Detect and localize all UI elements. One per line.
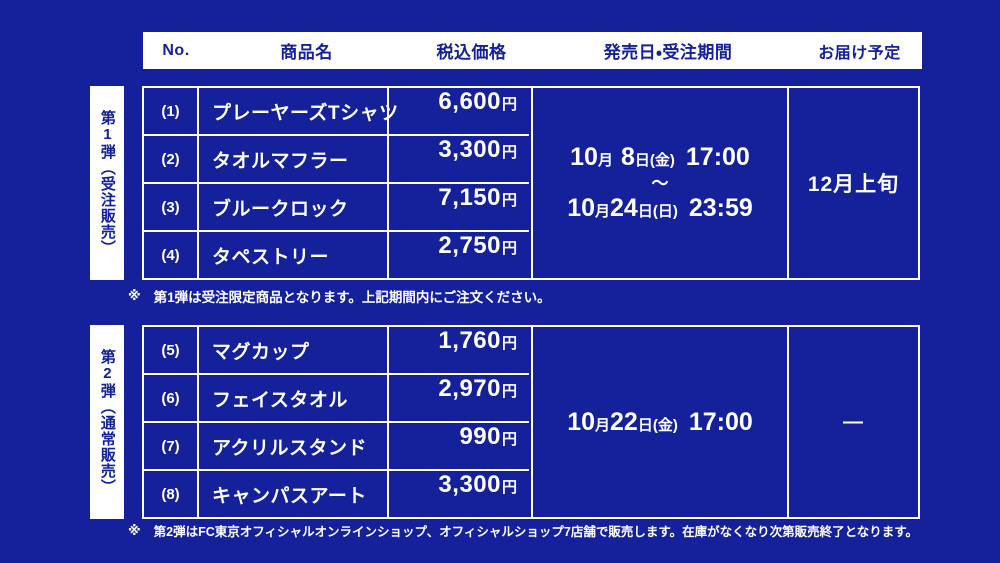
product-block-second: 第2弾（通常販売） (5) マグカップ 1,760 円 (6) フェイスタオル …: [90, 325, 920, 519]
header-cell-price: 税込価格: [404, 38, 539, 63]
row-number: (5): [144, 327, 199, 373]
row-number: (1): [144, 88, 199, 134]
note-text: 第1弾は受注限定商品となります。上記期間内にご注文ください。: [154, 286, 551, 306]
row-price-amount: 3,300: [438, 471, 501, 499]
row-price: 7,150 円: [389, 184, 529, 230]
row-product-name: キャンパスアート: [199, 471, 389, 517]
end-day: 24: [610, 194, 638, 223]
table-row: (8) キャンパスアート 3,300 円: [144, 471, 529, 517]
row-price-amount: 1,760: [438, 327, 501, 355]
table-row: (1) プレーヤーズTシャツ 6,600 円: [144, 88, 529, 136]
row-product-name: タオルマフラー: [199, 136, 389, 182]
row-number: (3): [144, 184, 199, 230]
product-table-second: (5) マグカップ 1,760 円 (6) フェイスタオル 2,970 円: [142, 325, 920, 519]
row-product-name: タペストリー: [199, 232, 389, 278]
row-number: (7): [144, 423, 199, 469]
row-price-unit: 円: [502, 428, 517, 449]
table-row: (4) タペストリー 2,750 円: [144, 232, 529, 278]
delivery-cell-second: ―: [789, 327, 918, 517]
start-month: 10: [570, 143, 598, 172]
start-day: 8: [621, 143, 635, 172]
row-number: (2): [144, 136, 199, 182]
block-side-label-second: 第2弾（通常販売）: [90, 325, 124, 519]
row-number: (8): [144, 471, 199, 517]
start-weekday: (金): [650, 149, 675, 170]
product-rows-second: (5) マグカップ 1,760 円 (6) フェイスタオル 2,970 円: [144, 327, 529, 517]
row-price-unit: 円: [502, 476, 517, 497]
row-product-name: マグカップ: [199, 327, 389, 373]
row-price-amount: 2,970: [438, 375, 501, 403]
row-product-name: ブルークロック: [199, 184, 389, 230]
table-row: (6) フェイスタオル 2,970 円: [144, 375, 529, 423]
start-day-unit: 日: [635, 149, 650, 170]
row-product-name: フェイスタオル: [199, 375, 389, 421]
table-row: (7) アクリルスタンド 990 円: [144, 423, 529, 471]
row-product-name: アクリルスタンド: [199, 423, 389, 469]
header-cell-product-name: 商品名: [209, 38, 404, 63]
end-day-unit: 日: [638, 200, 653, 221]
order-period-start: 10 月 8 日 (金) 17:00: [570, 143, 750, 172]
product-table-first: (1) プレーヤーズTシャツ 6,600 円 (2) タオルマフラー 3,300…: [142, 86, 920, 280]
row-price-unit: 円: [502, 93, 517, 114]
start-time: 17:00: [686, 143, 750, 172]
order-period-cell-second: 10 月 22 日 (金) 17:00: [531, 327, 789, 517]
row-number: (6): [144, 375, 199, 421]
header-cell-no: No.: [143, 42, 209, 60]
start-time: 17:00: [689, 408, 753, 437]
start-month-unit: 月: [598, 149, 613, 170]
row-price-amount: 990: [459, 423, 501, 451]
row-price: 2,750 円: [389, 232, 529, 278]
block-side-label-text: 第1弾（受注販売）: [99, 110, 115, 256]
table-row: (3) ブルークロック 7,150 円: [144, 184, 529, 232]
order-period-start: 10 月 22 日 (金) 17:00: [567, 408, 753, 437]
note-mark-icon: ※: [128, 523, 141, 539]
order-period-end: 10 月 24 日 (日) 23:59: [567, 194, 753, 223]
row-number: (4): [144, 232, 199, 278]
end-month: 10: [567, 194, 595, 223]
note-text: 第2弾はFC東京オフィシャルオンラインショップ、オフィシャルショップ7店舗で販売…: [154, 521, 918, 540]
row-price: 3,300 円: [389, 136, 529, 182]
row-price-amount: 6,600: [438, 88, 501, 116]
table-header-row: No. 商品名 税込価格 発売日・受注期間 お届け予定: [143, 32, 922, 69]
period-separator: 〜: [652, 175, 669, 192]
start-month-unit: 月: [595, 414, 610, 435]
note-second-block: ※ 第2弾はFC東京オフィシャルオンラインショップ、オフィシャルショップ7店舗で…: [128, 521, 918, 540]
row-price-unit: 円: [502, 237, 517, 258]
row-price: 2,970 円: [389, 375, 529, 421]
table-row: (2) タオルマフラー 3,300 円: [144, 136, 529, 184]
row-price: 990 円: [389, 423, 529, 469]
start-day: 22: [610, 408, 638, 437]
start-weekday: (金): [653, 414, 678, 435]
row-price: 6,600 円: [389, 88, 529, 134]
row-price-unit: 円: [502, 380, 517, 401]
start-day-unit: 日: [638, 414, 653, 435]
row-price-amount: 7,150: [438, 184, 501, 212]
order-period-cell-first: 10 月 8 日 (金) 17:00 〜 10 月 24 日 (日) 23:59: [531, 88, 789, 278]
end-time: 23:59: [689, 194, 753, 223]
row-price: 3,300 円: [389, 471, 529, 517]
end-month-unit: 月: [595, 200, 610, 221]
row-price-amount: 3,300: [438, 136, 501, 164]
note-first-block: ※ 第1弾は受注限定商品となります。上記期間内にご注文ください。: [128, 286, 551, 306]
block-side-label-text: 第2弾（通常販売）: [99, 349, 115, 495]
product-block-first: 第1弾（受注販売） (1) プレーヤーズTシャツ 6,600 円 (2) タオル…: [90, 86, 920, 280]
delivery-cell-first: 12月上旬: [789, 88, 918, 278]
row-price: 1,760 円: [389, 327, 529, 373]
start-month: 10: [567, 408, 595, 437]
row-price-amount: 2,750: [438, 232, 501, 260]
block-side-label-first: 第1弾（受注販売）: [90, 86, 124, 280]
row-price-unit: 円: [502, 189, 517, 210]
product-rows-first: (1) プレーヤーズTシャツ 6,600 円 (2) タオルマフラー 3,300…: [144, 88, 529, 278]
note-mark-icon: ※: [128, 288, 141, 304]
end-weekday: (日): [653, 200, 678, 221]
product-schedule-slide: No. 商品名 税込価格 発売日・受注期間 お届け予定 第1弾（受注販売） (1…: [0, 0, 1000, 563]
header-cell-period: 発売日・受注期間: [539, 38, 797, 63]
row-price-unit: 円: [502, 332, 517, 353]
row-product-name: プレーヤーズTシャツ: [199, 88, 389, 134]
row-price-unit: 円: [502, 141, 517, 162]
header-cell-delivery: お届け予定: [797, 39, 922, 63]
table-row: (5) マグカップ 1,760 円: [144, 327, 529, 375]
